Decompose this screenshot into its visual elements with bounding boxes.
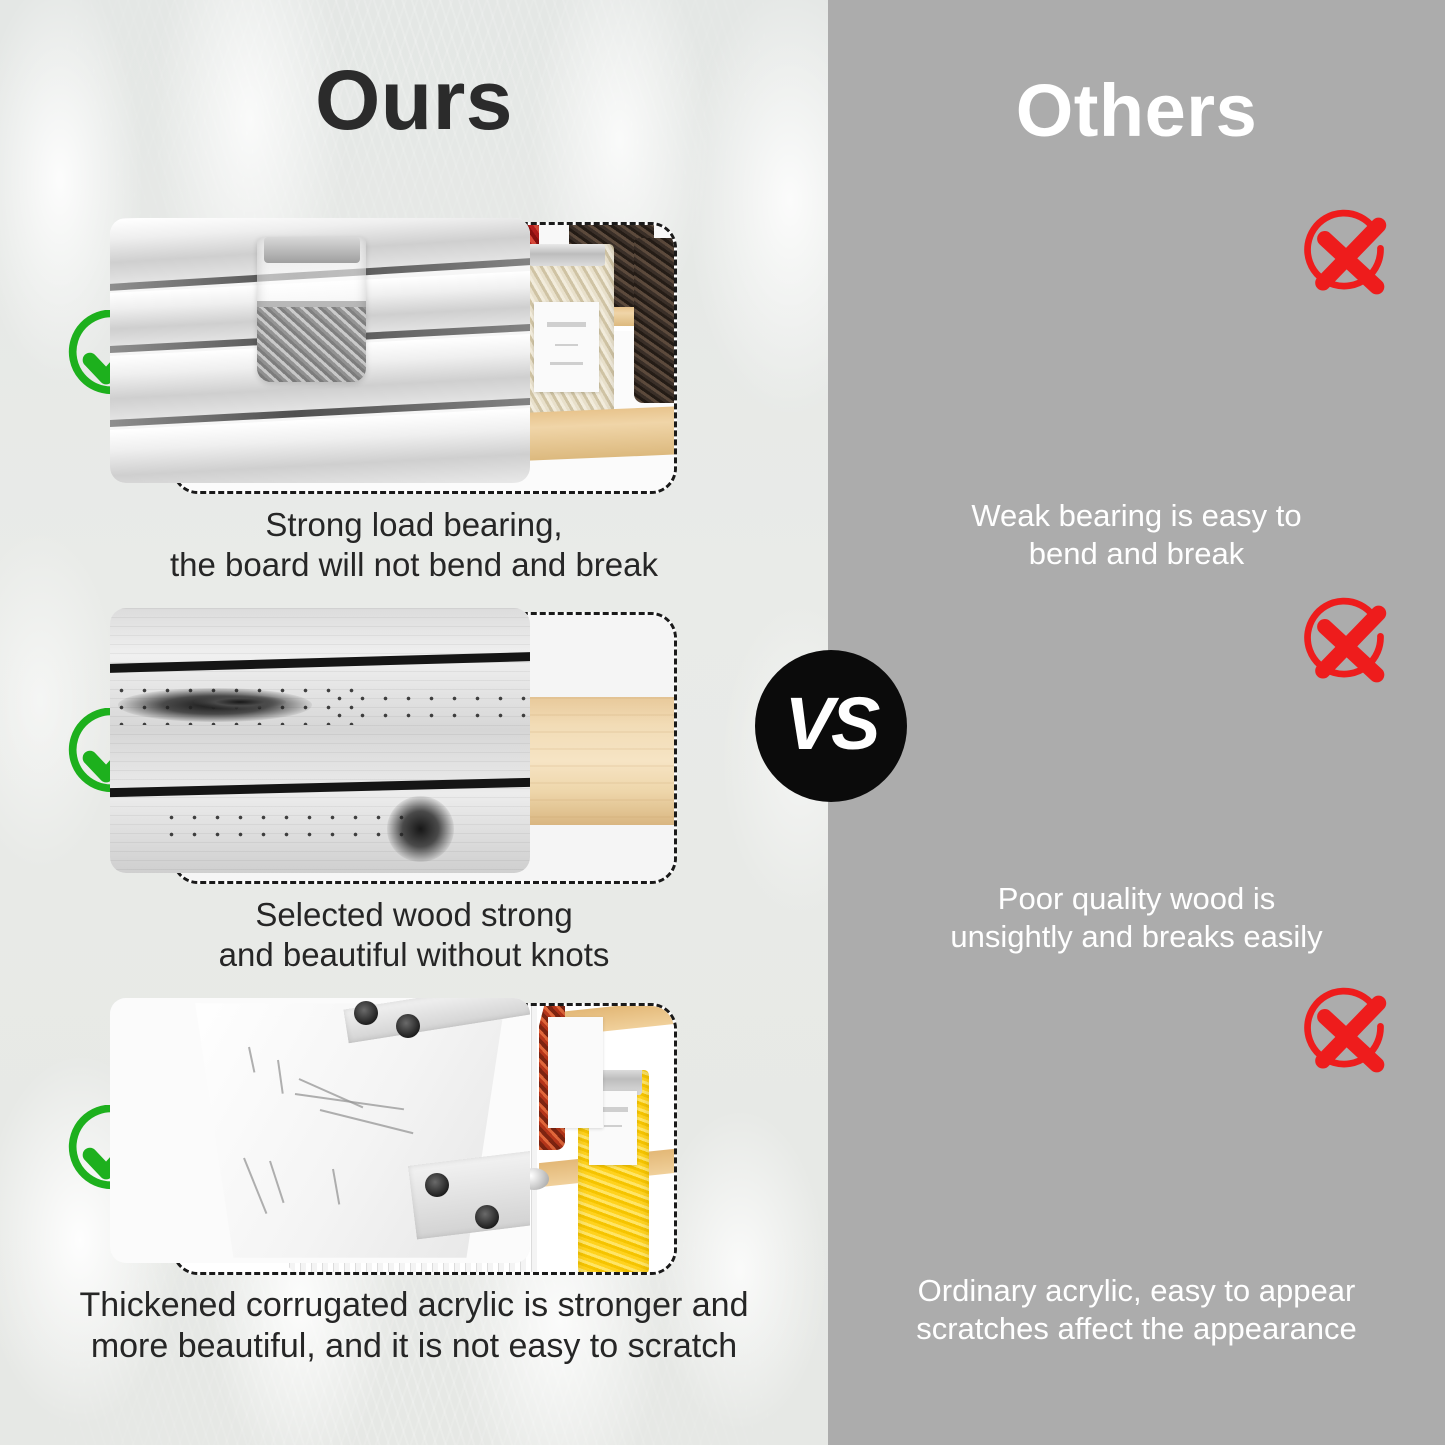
others-photo-1 xyxy=(110,218,530,483)
others-caption-3-line2: scratches affect the appearance xyxy=(828,1310,1445,1348)
others-caption-1: Weak bearing is easy to bend and break xyxy=(828,497,1445,573)
ours-caption-2: Selected wood strong and beautiful witho… xyxy=(0,895,828,976)
ours-caption-3-line1: Thickened corrugated acrylic is stronger… xyxy=(0,1285,828,1326)
others-photo-3 xyxy=(110,998,530,1263)
ours-title: Ours xyxy=(0,52,828,149)
ours-caption-1-line2: the board will not bend and break xyxy=(0,545,828,585)
vs-badge: VS xyxy=(755,650,907,802)
vs-badge-label: VS xyxy=(785,687,878,761)
others-title: Others xyxy=(828,68,1445,153)
ours-caption-2-line1: Selected wood strong xyxy=(0,895,828,935)
others-caption-2-line1: Poor quality wood is xyxy=(828,880,1445,918)
ours-caption-3-line2: more beautiful, and it is not easy to sc… xyxy=(0,1326,828,1367)
others-caption-2: Poor quality wood is unsightly and break… xyxy=(828,880,1445,956)
others-photo-2 xyxy=(110,608,530,873)
ours-caption-1: Strong load bearing, the board will not … xyxy=(0,505,828,586)
comparison-infographic: Ours Others xyxy=(0,0,1445,1445)
others-caption-3-line1: Ordinary acrylic, easy to appear xyxy=(828,1272,1445,1310)
ours-caption-2-line2: and beautiful without knots xyxy=(0,935,828,975)
others-caption-3: Ordinary acrylic, easy to appear scratch… xyxy=(828,1272,1445,1348)
cross-circle-icon-2 xyxy=(1296,596,1392,692)
others-caption-1-line1: Weak bearing is easy to xyxy=(828,497,1445,535)
others-caption-2-line2: unsightly and breaks easily xyxy=(828,918,1445,956)
ours-caption-3: Thickened corrugated acrylic is stronger… xyxy=(0,1285,828,1368)
ours-caption-1-line1: Strong load bearing, xyxy=(0,505,828,545)
others-caption-1-line2: bend and break xyxy=(828,535,1445,573)
cross-circle-icon-3 xyxy=(1296,986,1392,1082)
cross-circle-icon-1 xyxy=(1296,208,1392,304)
